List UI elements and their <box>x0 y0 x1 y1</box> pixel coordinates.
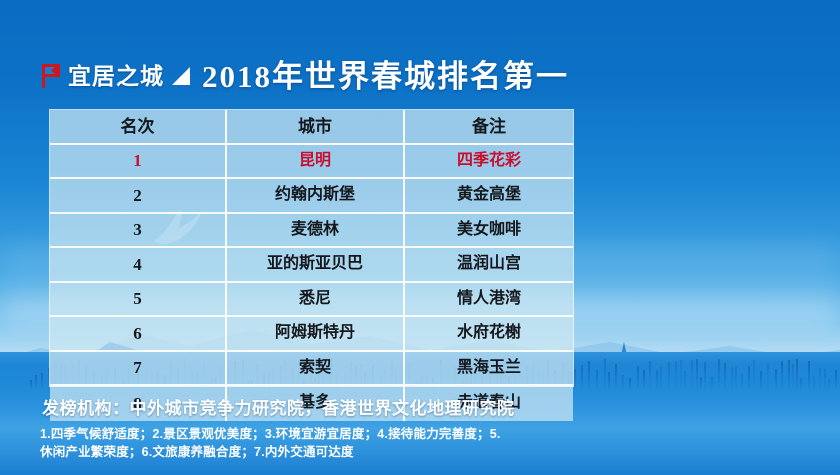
table-header-row: 名次 城市 备注 <box>50 110 573 145</box>
criteria-list: 1.四季气候舒适度；2.景区景观优美度；3.环境宜游宜居度；4.接待能力完善度；… <box>40 425 640 461</box>
cell-note: 黑海玉兰 <box>405 352 573 387</box>
ranking-table: 名次 城市 备注 1昆明四季花彩2约翰内斯堡黄金高堡3麦德林美女咖啡4亚的斯亚贝… <box>50 110 573 421</box>
cell-note: 黄金高堡 <box>405 179 573 214</box>
cell-rank: 5 <box>50 283 227 318</box>
cell-rank: 3 <box>50 214 227 249</box>
table-header: 名次 城市 备注 <box>50 110 573 145</box>
column-header-note: 备注 <box>405 110 573 145</box>
table-body: 1昆明四季花彩2约翰内斯堡黄金高堡3麦德林美女咖啡4亚的斯亚贝巴温润山宫5悉尼情… <box>50 145 573 421</box>
table-row: 4亚的斯亚贝巴温润山宫 <box>50 248 573 283</box>
issuing-organization: 发榜机构：中外城市竞争力研究院，香港世界文化地理研究院 <box>42 394 515 419</box>
table-row: 5悉尼情人港湾 <box>50 283 573 318</box>
criteria-line-2: 休闲产业繁荣度；6.文旅康养融合度；7.内外交通可达度 <box>40 443 640 461</box>
table-row: 3麦德林美女咖啡 <box>50 214 573 249</box>
table-row: 1昆明四季花彩 <box>50 145 573 180</box>
cell-rank: 1 <box>50 145 227 180</box>
criteria-line-1: 1.四季气候舒适度；2.景区景观优美度；3.环境宜游宜居度；4.接待能力完善度；… <box>40 425 640 443</box>
cell-rank: 7 <box>50 352 227 387</box>
slide-canvas: 宜居之城 2018年世界春城排名第一 名次 城市 备注 1昆明四季花彩2约翰内斯… <box>0 0 840 475</box>
corner-triangle-icon <box>170 65 192 87</box>
slide-title-row: 宜居之城 2018年世界春城排名第一 <box>40 54 569 98</box>
cell-city: 阿姆斯特丹 <box>227 317 405 352</box>
page-title: 2018年世界春城排名第一 <box>202 61 569 92</box>
cell-note: 温润山宫 <box>405 248 573 283</box>
cell-note: 情人港湾 <box>405 283 573 318</box>
cell-rank: 4 <box>50 248 227 283</box>
cell-rank: 2 <box>50 179 227 214</box>
red-flag-icon <box>40 63 62 89</box>
cell-city: 昆明 <box>227 145 405 180</box>
cell-note: 美女咖啡 <box>405 214 573 249</box>
table-row: 6阿姆斯特丹水府花榭 <box>50 317 573 352</box>
cell-city: 悉尼 <box>227 283 405 318</box>
column-header-rank: 名次 <box>50 110 227 145</box>
table-row: 7索契黑海玉兰 <box>50 352 573 387</box>
cell-note: 水府花榭 <box>405 317 573 352</box>
cell-city: 索契 <box>227 352 405 387</box>
cell-note: 四季花彩 <box>405 145 573 180</box>
table-row: 2约翰内斯堡黄金高堡 <box>50 179 573 214</box>
column-header-city: 城市 <box>227 110 405 145</box>
title-tagline: 宜居之城 <box>68 65 164 88</box>
cell-city: 约翰内斯堡 <box>227 179 405 214</box>
cell-rank: 6 <box>50 317 227 352</box>
cell-city: 亚的斯亚贝巴 <box>227 248 405 283</box>
cell-city: 麦德林 <box>227 214 405 249</box>
